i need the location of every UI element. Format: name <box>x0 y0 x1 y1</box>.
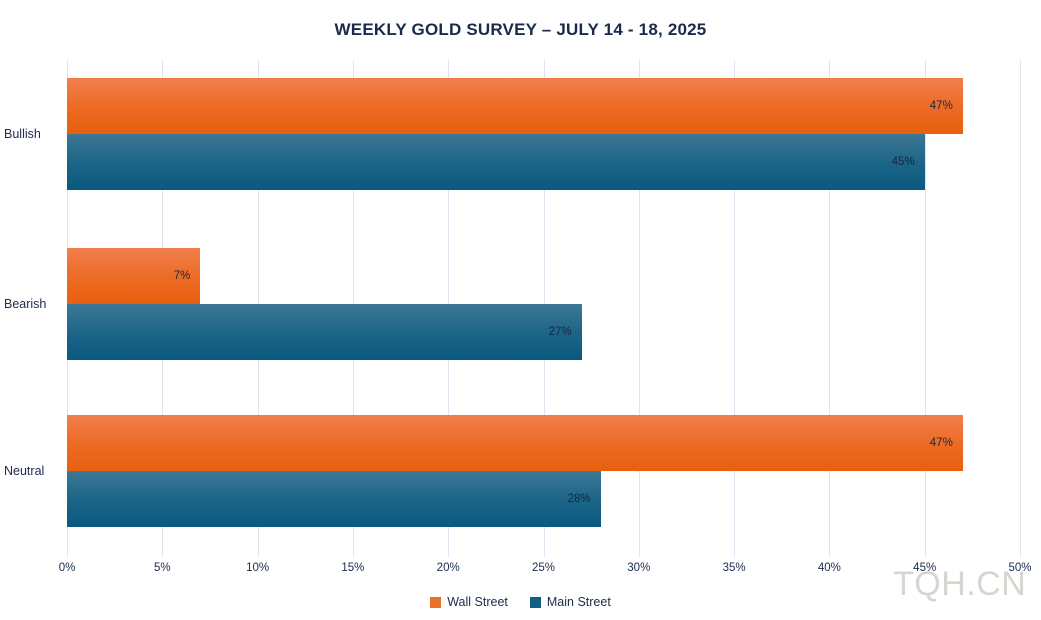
bar-bearish-main-street: 27% <box>67 304 582 360</box>
bar-bearish-wall-street: 7% <box>67 248 200 304</box>
legend-item-main-street[interactable]: Main Street <box>530 595 611 609</box>
x-tick-label: 10% <box>246 562 269 574</box>
legend-swatch-icon <box>430 597 441 608</box>
bar-bullish-wall-street: 47% <box>67 78 963 134</box>
x-tick-label: 40% <box>818 562 841 574</box>
bar-value-label: 45% <box>892 156 915 168</box>
x-tick-label: 50% <box>1008 562 1031 574</box>
x-tick-label: 45% <box>913 562 936 574</box>
bar-value-label: 47% <box>930 100 953 112</box>
y-axis-category-labels: BullishBearishNeutral <box>0 60 60 557</box>
x-tick-label: 5% <box>154 562 171 574</box>
x-axis-tick-labels: 0%5%10%15%20%25%30%35%40%45%50% <box>67 562 1020 582</box>
x-tick-label: 20% <box>437 562 460 574</box>
legend-item-wall-street[interactable]: Wall Street <box>430 595 508 609</box>
bar-value-label: 47% <box>930 437 953 449</box>
bar-value-label: 28% <box>568 493 591 505</box>
legend-label: Main Street <box>547 595 611 609</box>
bar-bullish-main-street: 45% <box>67 134 925 190</box>
bar-neutral-wall-street: 47% <box>67 415 963 471</box>
x-tick-label: 25% <box>532 562 555 574</box>
category-label-bullish: Bullish <box>4 127 64 141</box>
bar-neutral-main-street: 28% <box>67 471 601 527</box>
x-tick-label: 35% <box>723 562 746 574</box>
chart-legend: Wall StreetMain Street <box>0 595 1041 609</box>
chart-title: WEEKLY GOLD SURVEY – JULY 14 - 18, 2025 <box>0 20 1041 40</box>
x-tick-label: 30% <box>627 562 650 574</box>
x-tick-label: 0% <box>59 562 76 574</box>
gridline <box>925 60 926 557</box>
bar-value-label: 7% <box>174 270 191 282</box>
legend-label: Wall Street <box>447 595 508 609</box>
gridline <box>1020 60 1021 557</box>
category-label-neutral: Neutral <box>4 464 64 478</box>
bar-value-label: 27% <box>549 326 572 338</box>
plot-area: 47%45%7%27%47%28% <box>67 60 1020 557</box>
x-tick-label: 15% <box>341 562 364 574</box>
category-label-bearish: Bearish <box>4 297 64 311</box>
legend-swatch-icon <box>530 597 541 608</box>
